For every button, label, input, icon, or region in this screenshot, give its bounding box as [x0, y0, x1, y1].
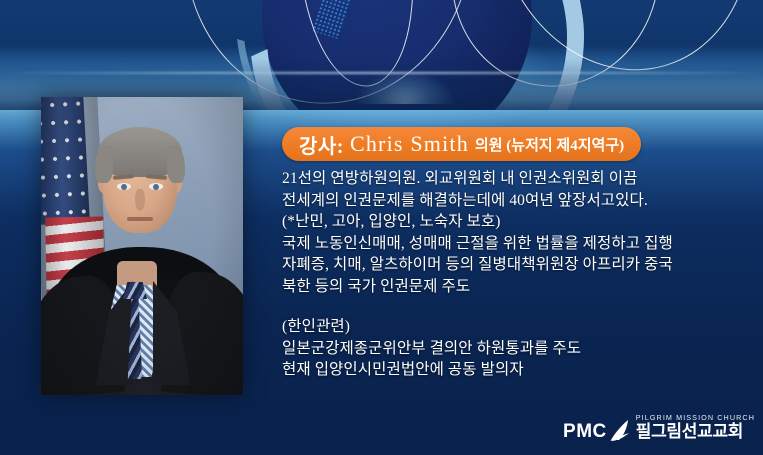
portrait-vignette — [41, 97, 243, 395]
bio-line: 자폐증, 치매, 알츠하이머 등의 질병대책위원장 아프리카 중국 — [282, 254, 752, 276]
paragraph-spacer — [282, 297, 752, 316]
logo-korean-name: 필그림선교교회 — [636, 423, 743, 441]
bio-line: 일본군강제종군위안부 결의안 하원통과를 주도 — [282, 338, 752, 360]
bio-line: 21선의 연방하원의원. 외교위원회 내 인권소위원회 이끔 — [282, 168, 752, 190]
church-logo: PMC PILGRIM MISSION CHURCH 필그림선교교회 — [563, 413, 755, 441]
sail-icon — [609, 419, 630, 442]
title-suffix: 의원 (뉴저지 제4지역구) — [475, 134, 624, 155]
bio-line: 전세계의 인권문제를 해결하는데에 40여년 앞장서고있다. — [282, 190, 752, 212]
speaker-title-banner: 강사: Chris Smith 의원 (뉴저지 제4지역구) — [282, 127, 641, 161]
title-prefix: 강사: — [299, 130, 344, 159]
bio-line: 현재 입양인시민권법안에 공동 발의자 — [282, 359, 752, 381]
bio-line: 북한 등의 국가 인권문제 주도 — [282, 276, 752, 298]
logo-english-name: PILGRIM MISSION CHURCH — [636, 413, 755, 422]
speaker-portrait-photo — [41, 97, 243, 395]
bio-line: (*난민, 고아, 입양인, 노숙자 보호) — [282, 211, 752, 233]
speaker-biography: 21선의 연방하원의원. 외교위원회 내 인권소위원회 이끔 전세계의 인권문제… — [282, 168, 752, 381]
speaker-name: Chris Smith — [344, 131, 475, 157]
bio-line: 국제 노동인신매매, 성매매 근절을 위한 법률을 제정하고 집행 — [282, 233, 752, 255]
header-artwork — [0, 0, 763, 110]
logo-pmc-mark: PMC — [563, 422, 607, 441]
presentation-slide: 강사: Chris Smith 의원 (뉴저지 제4지역구) 21선의 연방하원… — [0, 0, 763, 455]
bio-line: (한인관련) — [282, 316, 752, 338]
logo-text-block: PILGRIM MISSION CHURCH 필그림선교교회 — [636, 413, 755, 441]
